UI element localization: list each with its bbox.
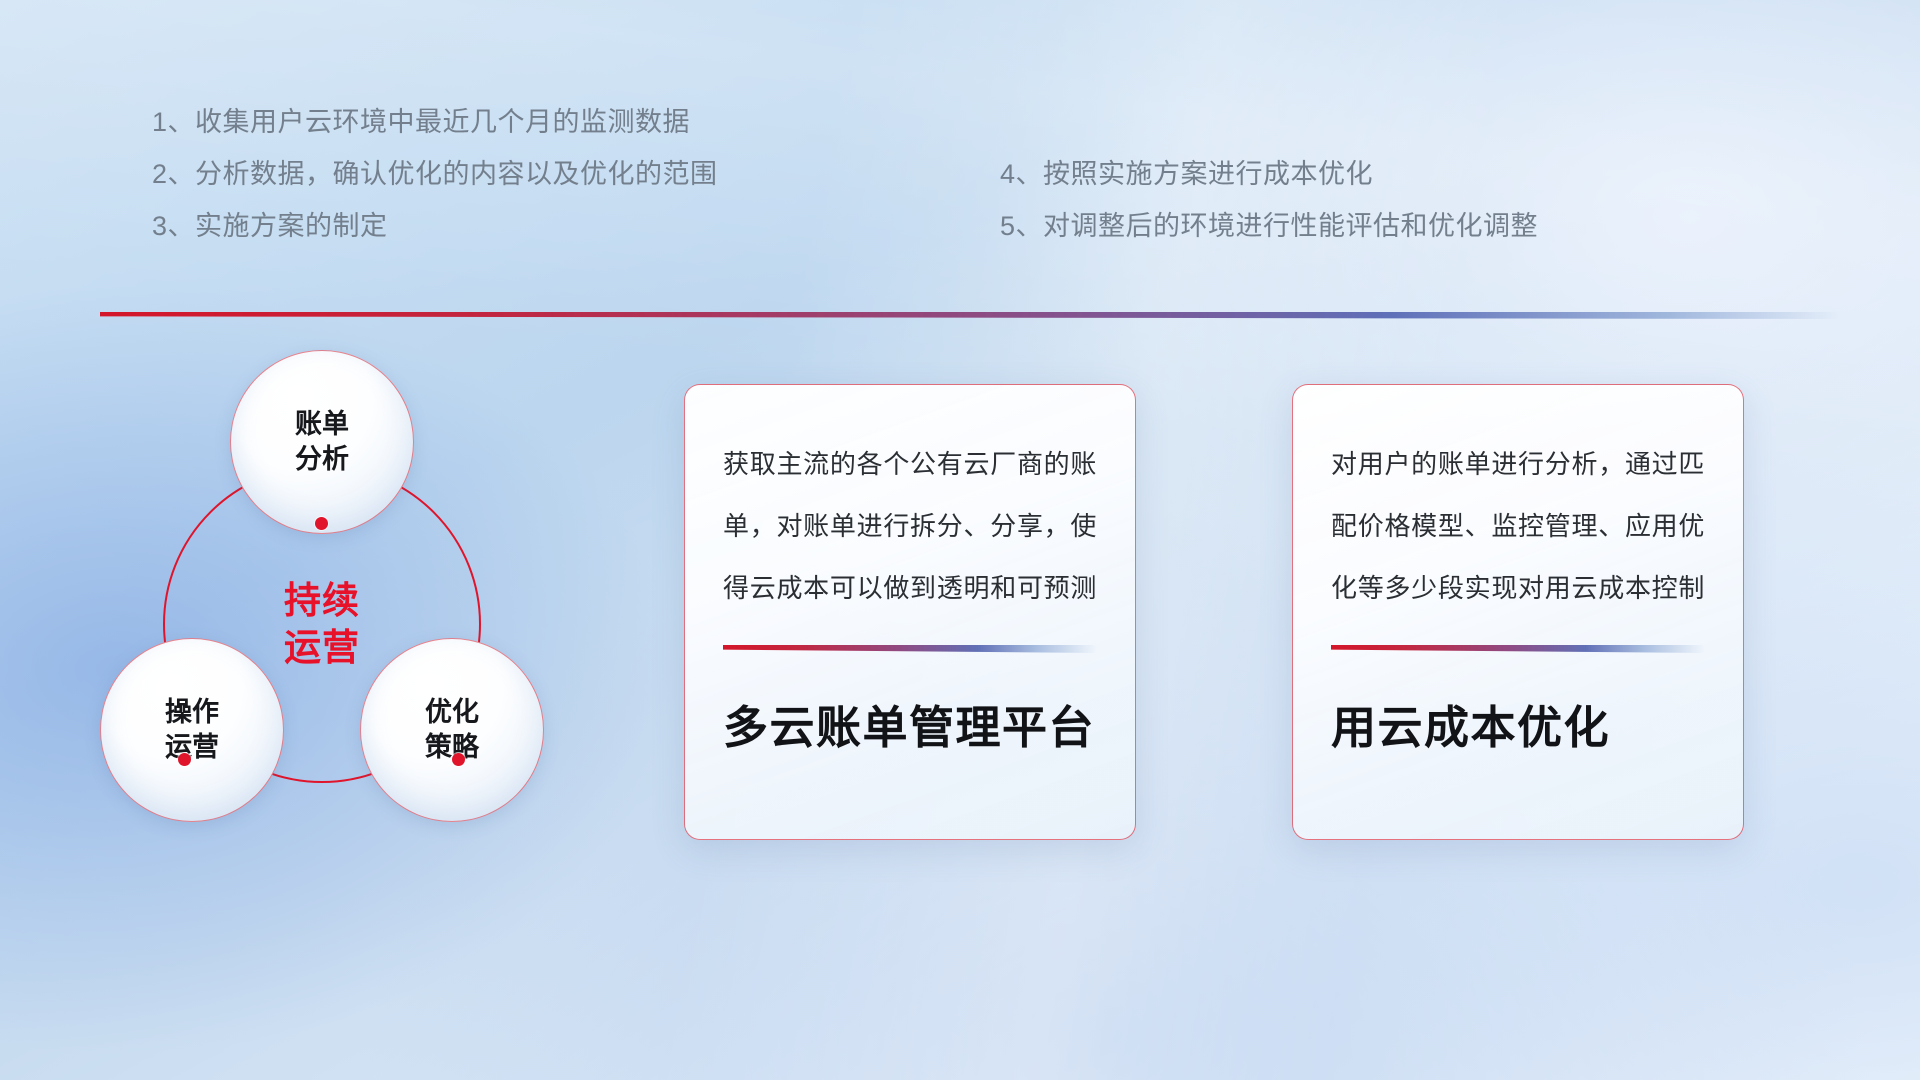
bubble-optimization-strategy[interactable]: 优化 策略 (360, 638, 544, 822)
card-cloud-cost-optimization-divider (1331, 645, 1705, 653)
center-label-line1: 持续 (284, 577, 360, 624)
step-item-4: 4、按照实施方案进行成本优化 (1000, 148, 1538, 200)
step-item-3: 3、实施方案的制定 (152, 200, 718, 252)
steps-list-right: 4、按照实施方案进行成本优化 5、对调整后的环境进行性能评估和优化调整 (1000, 148, 1538, 252)
node-dot-right-icon (452, 753, 465, 766)
steps-list-left: 1、收集用户云环境中最近几个月的监测数据 2、分析数据，确认优化的内容以及优化的… (152, 96, 718, 252)
continuous-operation-diagram: 持续 运营 账单 分析 操作 运营 优化 策略 (100, 350, 620, 950)
bubble-bill-analysis-line2: 分析 (295, 442, 349, 477)
step-item-1: 1、收集用户云环境中最近几个月的监测数据 (152, 96, 718, 148)
card-multicloud-billing-divider (723, 645, 1097, 653)
bubble-operations[interactable]: 操作 运营 (100, 638, 284, 822)
bubble-operations-line2: 运营 (165, 730, 219, 765)
section-divider-rule (100, 312, 1840, 319)
card-multicloud-billing-body: 获取主流的各个公有云厂商的账单，对账单进行拆分、分享，使得云成本可以做到透明和可… (723, 433, 1097, 619)
step-item-2: 2、分析数据，确认优化的内容以及优化的范围 (152, 148, 718, 200)
card-cloud-cost-optimization-body: 对用户的账单进行分析，通过匹配价格模型、监控管理、应用优化等多少段实现对用云成本… (1331, 433, 1705, 619)
node-dot-left-icon (178, 753, 191, 766)
card-multicloud-billing-title: 多云账单管理平台 (723, 699, 1097, 757)
card-multicloud-billing[interactable]: 获取主流的各个公有云厂商的账单，对账单进行拆分、分享，使得云成本可以做到透明和可… (684, 384, 1136, 840)
node-dot-top-icon (315, 517, 328, 530)
slide-canvas: 1、收集用户云环境中最近几个月的监测数据 2、分析数据，确认优化的内容以及优化的… (0, 0, 1920, 1080)
card-cloud-cost-optimization[interactable]: 对用户的账单进行分析，通过匹配价格模型、监控管理、应用优化等多少段实现对用云成本… (1292, 384, 1744, 840)
bubble-operations-line1: 操作 (165, 695, 219, 730)
bubble-optimization-strategy-line1: 优化 (425, 695, 479, 730)
center-label-line2: 运营 (284, 624, 360, 671)
step-item-5: 5、对调整后的环境进行性能评估和优化调整 (1000, 200, 1538, 252)
card-cloud-cost-optimization-title: 用云成本优化 (1331, 699, 1705, 757)
bubble-bill-analysis-line1: 账单 (295, 407, 349, 442)
bubble-bill-analysis[interactable]: 账单 分析 (230, 350, 414, 534)
